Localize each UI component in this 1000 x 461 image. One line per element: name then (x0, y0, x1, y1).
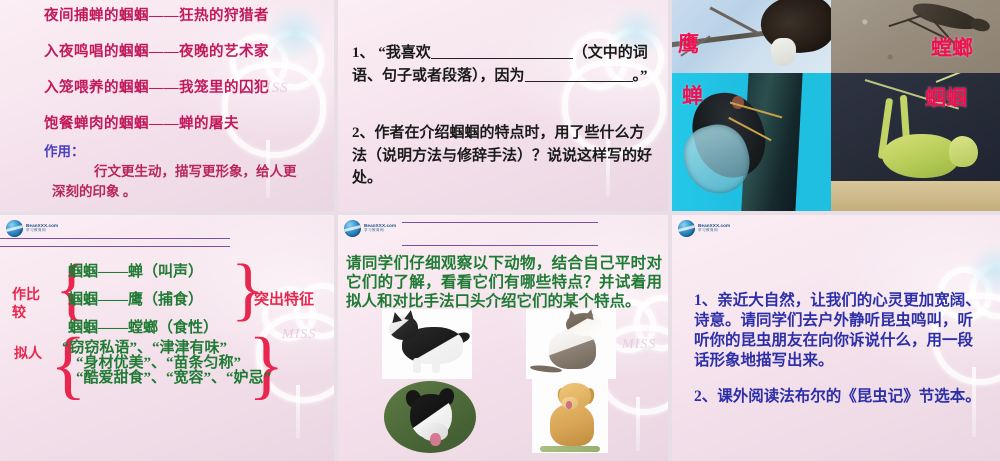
header-rule-bottom (402, 245, 598, 246)
fill-blank-2 (525, 81, 633, 82)
site-logo: BeanXXX.com 学习教育网 (678, 218, 734, 238)
slide-3[interactable]: 鹰 螳螂 蝉 蝈蝈 (672, 0, 1000, 211)
mantis-photo (831, 0, 1000, 73)
globe-icon (344, 220, 361, 237)
slide-thumbnail-grid: MISS 夜间捕蝉的蝈蝈——狂热的狩猎者 入夜鸣唱的蝈蝈——夜晚的艺术家 入笼喂… (0, 0, 1000, 461)
border-collie-photo (384, 381, 476, 453)
homework-item-1: 1、亲近大自然，让我们的心灵更加宽阔、诗意。请同学们去户外静听昆虫鸣叫，听听你的… (694, 291, 982, 372)
question-1-part-c: 。” (633, 68, 648, 84)
cat-tabby-white-photo (526, 309, 616, 379)
header-rule-top (0, 238, 230, 239)
logo-sub: 学习教育网 (26, 229, 58, 233)
logo-sub: 学习教育网 (698, 229, 730, 233)
header-rule-top (402, 222, 598, 223)
site-logo: BeanXXX.com 学习教育网 (6, 218, 62, 238)
poem-line-2: 入夜鸣唱的蝈蝈——夜晚的艺术家 (44, 40, 269, 61)
slide-5[interactable]: BeanXXX.com 学习教育网 MISS 请同学们仔细观察以下动物，结合自己… (338, 215, 668, 461)
person-item-3: “酷爱甜食”、“宽容”、“妒忌” (62, 371, 277, 386)
cat-black-white-photo (382, 309, 472, 379)
katydid-caption: 蝈蝈 (925, 82, 967, 112)
poem-line-3: 入笼喂养的蝈蝈——我笼里的囚犯 (44, 76, 269, 97)
globe-icon (678, 220, 695, 237)
poem-line-1: 夜间捕蝉的蝈蝈——狂热的狩猎者 (44, 4, 269, 25)
question-2: 2、作者在介绍蝈蝈的特点时，用了些什么方法（说明方法与修辞手法）？说说这样写的好… (352, 122, 658, 190)
compare-item-1: 蝈蝈——蝉（叫声） (68, 260, 203, 281)
site-logo: BeanXXX.com 学习教育网 (344, 218, 400, 238)
person-label: 拟人 (14, 346, 42, 364)
slide-6[interactable]: BeanXXX.com 学习教育网 1、亲近大自然，让我们的心灵更加宽阔、诗意。… (672, 215, 1000, 461)
logo-sub: 学习教育网 (364, 229, 396, 233)
function-text: 行文更生动，描写更形象，给人更深刻的印象 。 (52, 162, 302, 201)
cicada-caption: 蝉 (682, 80, 703, 110)
question-1: 1、 “我喜欢（文中的词语、句子或者段落），因为。” (352, 42, 658, 87)
slide-4[interactable]: BeanXXX.com 学习教育网 MISS 作比较 { } 蝈蝈——蝉（叫声）… (0, 215, 334, 461)
mantis-caption: 螳螂 (931, 32, 973, 62)
compare-item-2: 蝈蝈——鹰（捕食） (68, 288, 203, 309)
decor-miss-text: MISS (622, 337, 656, 353)
homework-item-2: 2、课外阅读法布尔的《昆虫记》节选本。 (694, 387, 982, 407)
question-1-part-a: 1、 “我喜欢 (352, 45, 431, 61)
header-rule-bottom (0, 246, 230, 247)
person-item-2: “身材优美”、“苗条匀称” (62, 356, 277, 371)
compare-label: 作比较 (12, 287, 52, 322)
golden-retriever-photo (532, 379, 608, 453)
poem-line-4: 饱餐蝉肉的蝈蝈——蝉的屠夫 (44, 112, 239, 133)
function-label: 作用： (44, 140, 85, 160)
decor-miss-text: MISS (282, 327, 316, 343)
observation-instruction: 请同学们仔细观察以下动物，结合自己平时对它们的了解，看看它们有哪些特点？并试着用… (346, 255, 662, 312)
katydid-photo (831, 73, 1000, 211)
compare-result: 突出特征 (254, 288, 314, 309)
slide-2[interactable]: 1、 “我喜欢（文中的词语、句子或者段落），因为。” 2、作者在介绍蝈蝈的特点时… (338, 0, 668, 211)
person-item-1: “窃窃私语”、“津津有味” (62, 341, 277, 356)
globe-icon (6, 220, 23, 237)
compare-item-3: 蝈蝈——螳螂（食性） (68, 316, 218, 337)
fill-blank-1 (431, 58, 573, 59)
slide-1[interactable]: MISS 夜间捕蝉的蝈蝈——狂热的狩猎者 入夜鸣唱的蝈蝈——夜晚的艺术家 入笼喂… (0, 0, 334, 211)
eagle-caption: 鹰 (678, 28, 699, 58)
